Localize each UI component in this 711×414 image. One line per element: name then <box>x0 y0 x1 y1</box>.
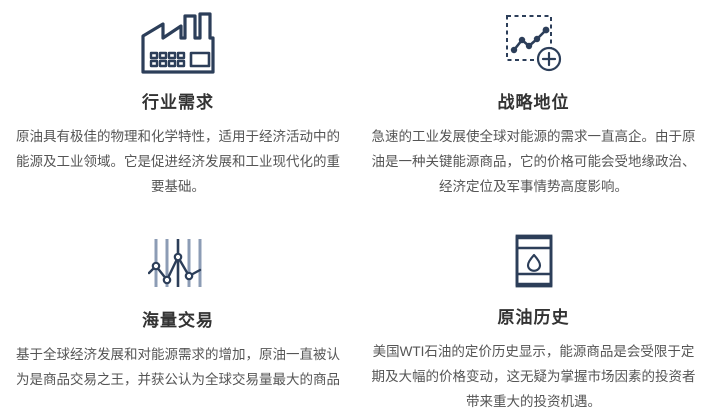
chart-add-icon <box>503 8 565 78</box>
card-title: 海量交易 <box>142 310 214 332</box>
factory-icon <box>140 8 216 78</box>
card-body: 原油具有极佳的物理和化学特性，适用于经济活动中的能源及工业领域。它是促进经济发展… <box>16 124 341 199</box>
feature-card-massive-trading: 海量交易 基于全球经济发展和对能源需求的增加，原油一直被认为是商品交易之王，并获… <box>0 207 356 414</box>
card-body: 美国WTI石油的定价历史显示，能源商品是会受限于定期及大幅的价格变动，这无疑为掌… <box>370 339 697 414</box>
card-title: 原油历史 <box>498 307 570 329</box>
candlestick-chart-icon <box>148 232 208 294</box>
oil-barrel-icon <box>512 232 556 291</box>
card-body: 基于全球经济发展和对能源需求的增加，原油一直被认为是商品交易之王，并获公认为全球… <box>16 342 341 392</box>
feature-card-strategic-position: 战略地位 急速的工业发展使全球对能源的需求一直高企。由于原油是一种关键能源商品，… <box>356 0 711 207</box>
feature-card-crude-oil-history: 原油历史 美国WTI石油的定价历史显示，能源商品是会受限于定期及大幅的价格变动，… <box>356 207 711 414</box>
feature-grid: 行业需求 原油具有极佳的物理和化学特性，适用于经济活动中的能源及工业领域。它是促… <box>0 0 711 414</box>
card-title: 战略地位 <box>498 92 570 114</box>
feature-card-industry-demand: 行业需求 原油具有极佳的物理和化学特性，适用于经济活动中的能源及工业领域。它是促… <box>0 0 356 207</box>
card-body: 急速的工业发展使全球对能源的需求一直高企。由于原油是一种关键能源商品，它的价格可… <box>370 124 697 199</box>
card-title: 行业需求 <box>142 92 214 114</box>
